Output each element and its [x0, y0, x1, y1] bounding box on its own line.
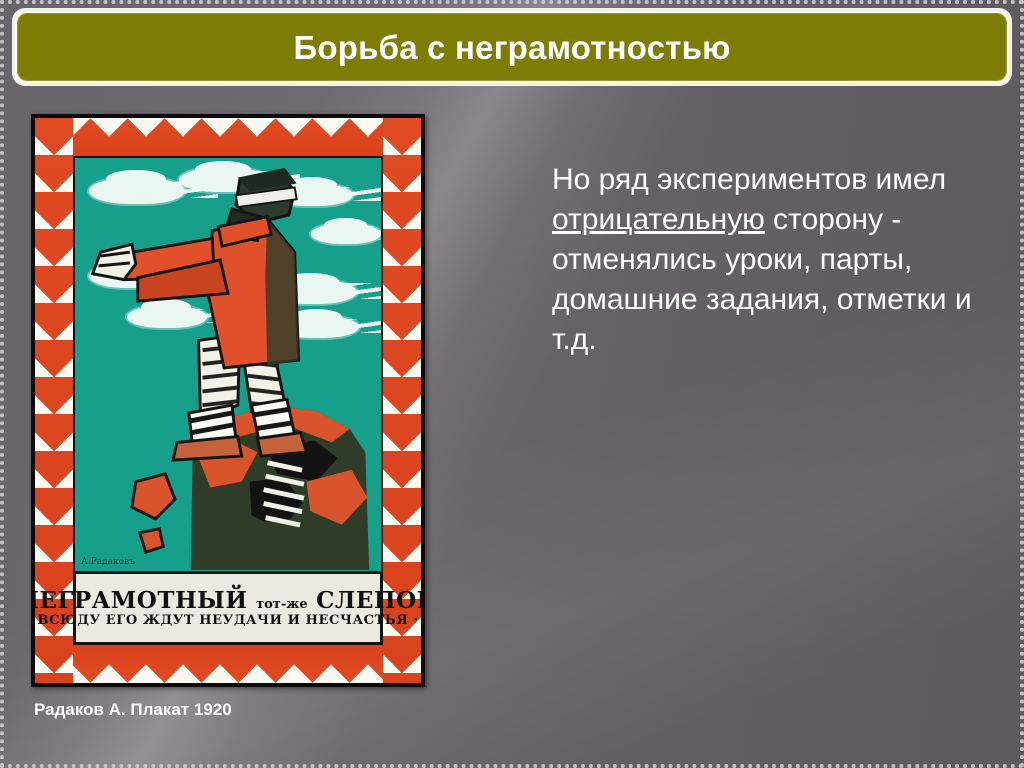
poster-border-bottom — [35, 645, 421, 683]
slide-canvas: Борьба с неграмотностью — [0, 0, 1024, 768]
body-text-emphasis: отрицательную — [552, 203, 765, 236]
poster-caption-strip: НЕГРАМОТНЫЙ тот-же СЛЕПОЙ ВСЮДУ ЕГО ЖДУТ… — [73, 571, 383, 645]
poster-caption-sub: ВСЮДУ ЕГО ЖДУТ НЕУДАЧИ И НЕСЧАСТЬЯ · — [37, 614, 418, 627]
title-bar: Борьба с неграмотностью — [12, 8, 1012, 86]
body-text-part-1: Но ряд экспериментов имел — [552, 163, 946, 196]
title-bar-inner-border: Борьба с неграмотностью — [15, 11, 1009, 83]
poster-credit: Радаков А. Плакат 1920 — [34, 700, 232, 720]
poster-border-top — [35, 118, 421, 156]
title-bar-fill: Борьба с неграмотностью — [17, 13, 1007, 81]
poster-image: А.Радаковъ НЕГРАМОТНЫЙ тот-же СЛЕПОЙ ВСЮ… — [31, 114, 425, 687]
artist-signature: А.Радаковъ — [81, 557, 135, 567]
poster-caption-word-2: тот-же — [256, 597, 308, 612]
poster-caption-word-1: НЕГРАМОТНЫЙ — [35, 587, 248, 614]
poster-caption-word-3: СЛЕПОЙ — [316, 587, 421, 614]
poster-figure — [75, 158, 381, 570]
body-text: Но ряд экспериментов имел отрицательную … — [552, 160, 972, 359]
poster-caption-main: НЕГРАМОТНЫЙ тот-же СЛЕПОЙ — [35, 589, 421, 612]
page-title: Борьба с неграмотностью — [294, 31, 731, 64]
poster-canvas: А.Радаковъ НЕГРАМОТНЫЙ тот-же СЛЕПОЙ ВСЮ… — [35, 118, 421, 683]
